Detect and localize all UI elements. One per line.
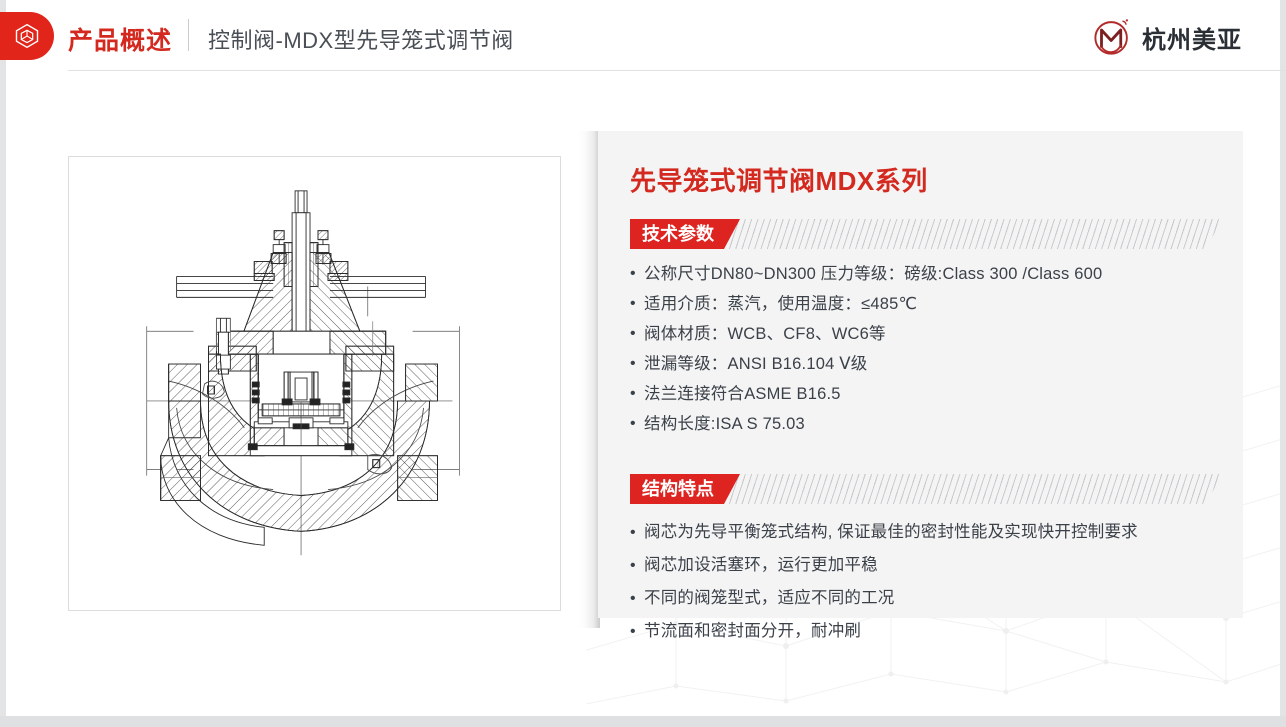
bullet-icon: • (630, 259, 644, 289)
page-right-edge (1280, 0, 1286, 727)
meiya-circle-m-logo-icon (1091, 16, 1133, 58)
company-name: 杭州美亚 (1142, 20, 1242, 55)
control-valve-cross-section-drawing (69, 157, 560, 610)
panel-title: 先导笼式调节阀MDX系列 (630, 161, 928, 198)
bullet-icon: • (630, 615, 644, 648)
page-bottom-edge (0, 716, 1286, 727)
list-item-text: 结构长度:ISA S 75.03 (644, 409, 805, 439)
list-item-text: 适用介质：蒸汽，使用温度：≤485℃ (644, 289, 917, 319)
list-item-text: 阀芯为先导平衡笼式结构, 保证最佳的密封性能及实现快开控制要求 (644, 516, 1138, 549)
list-item-text: 阀体材质：WCB、CF8、WC6等 (644, 319, 886, 349)
panel-left-bevel (578, 131, 600, 628)
company-logo: 杭州美亚 (1091, 16, 1242, 58)
page-header: 产品概述 控制阀-MDX型先导笼式调节阀 杭州美亚 (0, 0, 1286, 72)
list-item: • 阀芯加设活塞环，运行更加平稳 (630, 549, 1230, 582)
bullet-icon: • (630, 582, 644, 615)
section-stripes (718, 219, 1222, 249)
slide-page: 产品概述 控制阀-MDX型先导笼式调节阀 杭州美亚 (0, 0, 1286, 727)
section-header-tech-params: 技术参数 (630, 219, 1222, 249)
header-bottom-rule (68, 70, 1286, 71)
list-item: • 阀体材质：WCB、CF8、WC6等 (630, 319, 1230, 349)
bullet-icon: • (630, 409, 644, 439)
header-divider (188, 19, 189, 51)
list-item: • 公称尺寸DN80~DN300 压力等级：磅级:Class 300 /Clas… (630, 259, 1230, 289)
section-stripes (718, 474, 1222, 504)
list-item-text: 阀芯加设活塞环，运行更加平稳 (644, 549, 878, 582)
page-subtitle: 控制阀-MDX型先导笼式调节阀 (208, 23, 514, 55)
structure-features-list: • 阀芯为先导平衡笼式结构, 保证最佳的密封性能及实现快开控制要求 • 阀芯加设… (630, 516, 1230, 648)
list-item-text: 法兰连接符合ASME B16.5 (644, 379, 841, 409)
list-item: • 泄漏等级：ANSI B16.104 Ⅴ级 (630, 349, 1230, 379)
valve-drawing-card (68, 156, 561, 611)
section-tag-label: 结构特点 (630, 474, 740, 504)
list-item-text: 公称尺寸DN80~DN300 压力等级：磅级:Class 300 /Class … (644, 259, 1102, 289)
list-item: • 法兰连接符合ASME B16.5 (630, 379, 1230, 409)
bullet-icon: • (630, 319, 644, 349)
bullet-icon: • (630, 549, 644, 582)
bullet-icon: • (630, 379, 644, 409)
page-left-edge (0, 0, 6, 727)
bullet-icon: • (630, 516, 644, 549)
list-item: • 阀芯为先导平衡笼式结构, 保证最佳的密封性能及实现快开控制要求 (630, 516, 1230, 549)
list-item-text: 节流面和密封面分开，耐冲刷 (644, 615, 861, 648)
cube-hexagon-icon (13, 22, 41, 50)
section-header-structure-features: 结构特点 (630, 474, 1222, 504)
section-tag-label: 技术参数 (630, 219, 740, 249)
tech-params-list: • 公称尺寸DN80~DN300 压力等级：磅级:Class 300 /Clas… (630, 259, 1230, 439)
list-item-text: 不同的阀笼型式，适应不同的工况 (644, 582, 895, 615)
bullet-icon: • (630, 289, 644, 319)
spec-panel: 先导笼式调节阀MDX系列 技术参数 • 公称尺寸DN80~DN300 压力等级：… (598, 131, 1243, 618)
list-item: • 结构长度:ISA S 75.03 (630, 409, 1230, 439)
list-item-text: 泄漏等级：ANSI B16.104 Ⅴ级 (644, 349, 867, 379)
list-item: • 节流面和密封面分开，耐冲刷 (630, 615, 1230, 648)
list-item: • 适用介质：蒸汽，使用温度：≤485℃ (630, 289, 1230, 319)
bullet-icon: • (630, 349, 644, 379)
page-title: 产品概述 (68, 21, 172, 57)
list-item: • 不同的阀笼型式，适应不同的工况 (630, 582, 1230, 615)
header-badge (0, 12, 54, 60)
